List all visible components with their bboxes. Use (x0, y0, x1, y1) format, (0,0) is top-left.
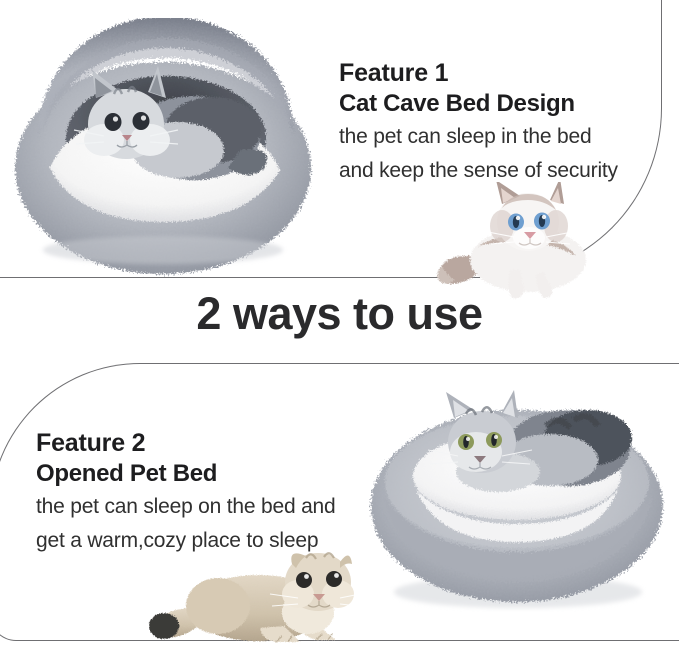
british-shorthair-cat-photo (140, 550, 360, 647)
feature-2-body-line-1: the pet can sleep on the bed and (36, 492, 376, 523)
open-pet-bed-photo (362, 386, 670, 616)
headline-2-ways-to-use: 2 ways to use (0, 291, 679, 336)
feature-1-body-line-1: the pet can sleep in the bed (339, 122, 664, 153)
feature-1-label: Feature 1 (339, 58, 664, 89)
cat-cave-bed-photo (8, 18, 318, 280)
feature-1-text-block: Feature 1 Cat Cave Bed Design the pet ca… (339, 58, 664, 186)
feature-2-label: Feature 2 (36, 428, 376, 459)
feature-2-title: Opened Pet Bed (36, 459, 376, 489)
feature-2-text-block: Feature 2 Opened Pet Bed the pet can sle… (36, 428, 376, 556)
infographic-canvas: Feature 1 Cat Cave Bed Design the pet ca… (0, 0, 679, 649)
ragdoll-cat-photo (432, 182, 622, 300)
feature-1-title: Cat Cave Bed Design (339, 89, 664, 119)
